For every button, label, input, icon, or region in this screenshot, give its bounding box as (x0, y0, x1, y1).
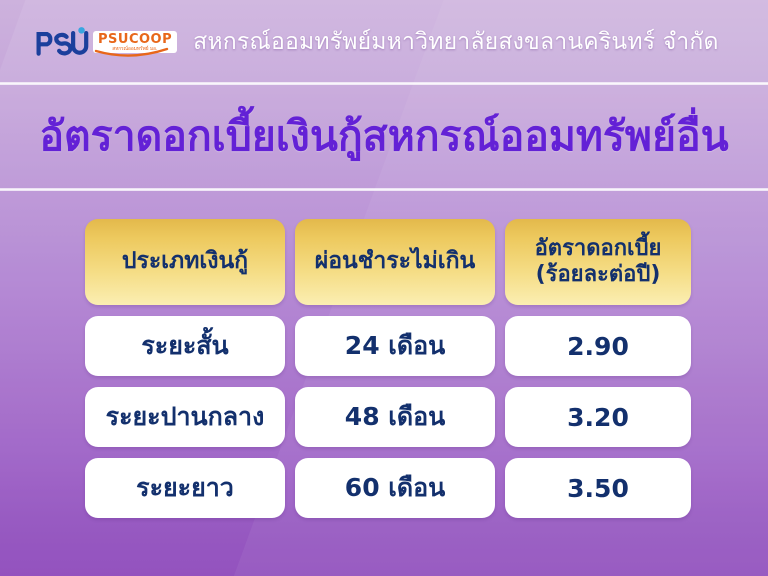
cell-loan-type: ระยะยาว (85, 458, 285, 518)
swoosh-icon (95, 48, 169, 58)
page-title: อัตราดอกเบี้ยเงินกู้สหกรณ์ออมทรัพย์อื่น (39, 104, 728, 169)
title-band: อัตราดอกเบี้ยเงินกู้สหกรณ์ออมทรัพย์อื่น (0, 85, 768, 188)
cell-text: 2.90 (567, 332, 629, 361)
brand-logo: PSUCOOP สหกรณ์ออมทรัพย์ มอ. (33, 22, 177, 62)
psucoop-badge: PSUCOOP สหกรณ์ออมทรัพย์ มอ. (93, 31, 177, 53)
organization-name: สหกรณ์ออมทรัพย์มหาวิทยาลัยสงขลานครินทร์ … (193, 24, 719, 60)
column-header-text: อัตราดอกเบี้ย (535, 236, 662, 262)
column-header-loan-type: ประเภทเงินกู้ (85, 219, 285, 305)
cell-text: ระยะยาว (136, 468, 234, 508)
cell-rate: 3.50 (505, 458, 691, 518)
cell-loan-type: ระยะปานกลาง (85, 387, 285, 447)
cell-rate: 3.20 (505, 387, 691, 447)
slide-canvas: PSUCOOP สหกรณ์ออมทรัพย์ มอ. สหกรณ์ออมทรั… (0, 0, 768, 576)
header-bar: PSUCOOP สหกรณ์ออมทรัพย์ มอ. สหกรณ์ออมทรั… (0, 0, 768, 83)
cell-text: 3.50 (567, 474, 629, 503)
table-row: ระยะสั้น 24 เดือน 2.90 (85, 316, 691, 376)
cell-text: 24 เดือน (345, 326, 445, 366)
table-row: ระยะยาว 60 เดือน 3.50 (85, 458, 691, 518)
table-header-row: ประเภทเงินกู้ ผ่อนชำระไม่เกิน อัตราดอกเบ… (85, 219, 691, 305)
column-header-term: ผ่อนชำระไม่เกิน (295, 219, 495, 305)
cell-text: 3.20 (567, 403, 629, 432)
separator-line-bottom (0, 188, 768, 191)
column-header-subtext: (ร้อยละต่อปี) (536, 262, 661, 288)
cell-loan-type: ระยะสั้น (85, 316, 285, 376)
table-row: ระยะปานกลาง 48 เดือน 3.20 (85, 387, 691, 447)
column-header-rate: อัตราดอกเบี้ย (ร้อยละต่อปี) (505, 219, 691, 305)
cell-text: 60 เดือน (345, 468, 445, 508)
interest-rate-table: ประเภทเงินกู้ ผ่อนชำระไม่เกิน อัตราดอกเบ… (85, 219, 691, 529)
cell-term: 24 เดือน (295, 316, 495, 376)
cell-rate: 2.90 (505, 316, 691, 376)
cell-text: ระยะปานกลาง (106, 397, 265, 437)
column-header-text: ผ่อนชำระไม่เกิน (315, 248, 475, 275)
psucoop-wordmark: PSUCOOP (98, 33, 172, 46)
cell-term: 60 เดือน (295, 458, 495, 518)
cell-term: 48 เดือน (295, 387, 495, 447)
column-header-text: ประเภทเงินกู้ (122, 248, 248, 275)
cell-text: 48 เดือน (345, 397, 445, 437)
cell-text: ระยะสั้น (141, 326, 228, 366)
psu-logo-icon (33, 25, 89, 59)
